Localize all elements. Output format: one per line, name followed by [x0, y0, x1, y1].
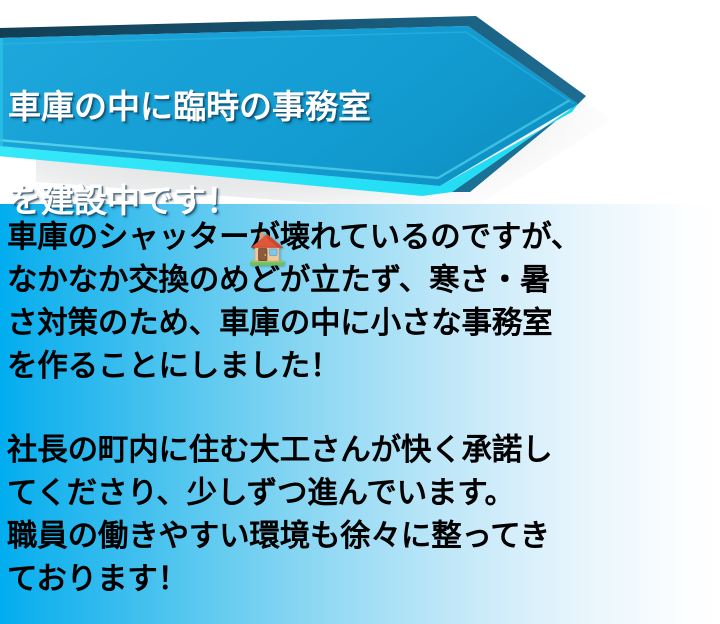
house-icon [247, 181, 287, 221]
banner-left-edge-strip [0, 38, 3, 146]
banner-title-line-2: を建設中です！ [8, 177, 239, 224]
body-text: 車庫のシャッターが壊れているのですが、 なかなか交換のめどが立たず、寒さ・暑 さ… [7, 216, 713, 601]
paragraph-spacer [7, 388, 713, 429]
banner-title: 車庫の中に臨時の事務室 を建設中です！ [8, 36, 428, 271]
banner-title-line-2-wrap: を建設中です！ [8, 177, 428, 224]
body-paragraph-2: 社長の町内に住む大工さんが快く承諾し てくださり、少しずつ進んでいます。 職員の… [7, 429, 713, 601]
banner-region: 車庫の中に臨時の事務室 を建設中です！ [0, 0, 720, 204]
banner-title-line-1: 車庫の中に臨時の事務室 [8, 83, 428, 130]
